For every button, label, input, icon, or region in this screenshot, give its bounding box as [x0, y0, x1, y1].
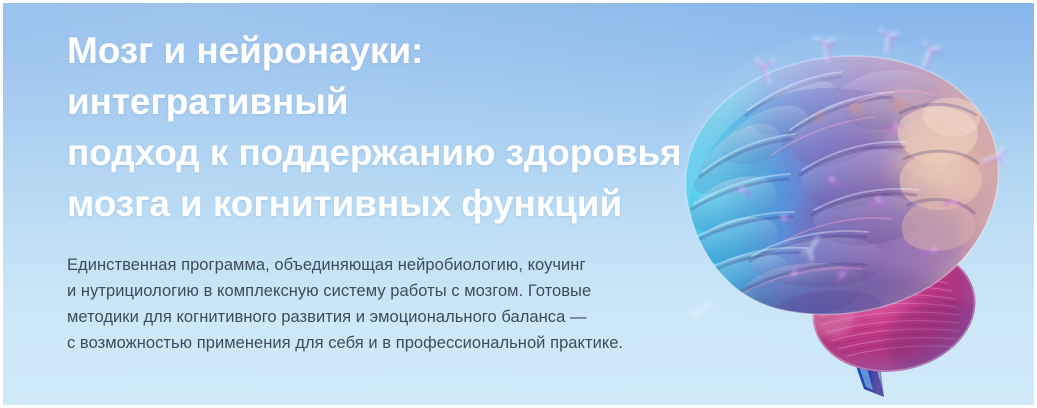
hero-text-block: Мозг и нейронауки: интегративный подход … — [67, 25, 707, 356]
gyri-temporal — [742, 237, 885, 328]
hero-description: Единственная программа, объединяющая ней… — [67, 229, 707, 356]
cerebellum — [791, 232, 997, 386]
hero-background: Мозг и нейронауки: интегративный подход … — [3, 3, 1034, 405]
neuron-sparks — [690, 29, 1005, 321]
brainstem — [838, 275, 884, 397]
gyri-occipital — [898, 98, 982, 252]
page-title: Мозг и нейронауки: интегративный подход … — [67, 25, 707, 229]
hero-banner: Мозг и нейронауки: интегративный подход … — [0, 0, 1037, 408]
gyri-central — [790, 70, 937, 245]
gyri-frontal — [692, 80, 839, 291]
brain-glow — [674, 33, 1014, 353]
